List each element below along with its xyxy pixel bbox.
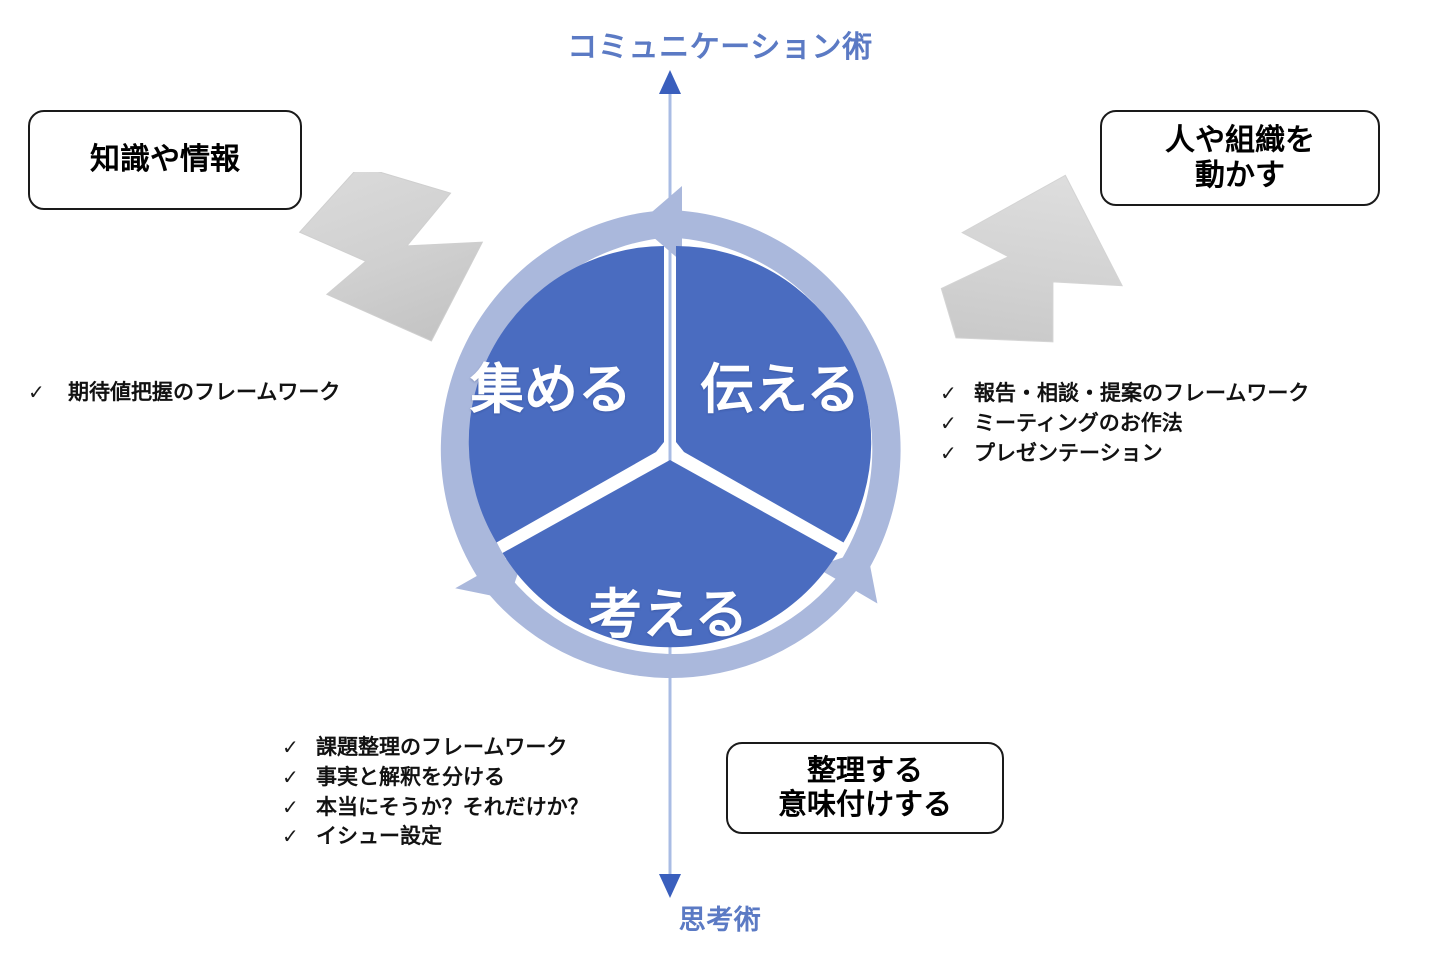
check-icon: ✓ <box>940 440 974 468</box>
list-item: ✓ プレゼンテーション <box>940 439 1309 469</box>
check-icon: ✓ <box>282 764 316 792</box>
callout-box-knowledge: 知識や情報 <box>28 110 302 210</box>
callout-box-move-people: 人や組織を 動かす <box>1100 110 1380 206</box>
axis-label-top: コミュニケーション術 <box>0 22 1440 66</box>
callout-organize-line2: 意味付けする <box>778 788 952 822</box>
checklist-right: ✓ 報告・相談・提案のフレームワーク ✓ ミーティングのお作法 ✓ プレゼンテー… <box>940 379 1309 468</box>
list-item: ✓ ミーティングのお作法 <box>940 409 1309 439</box>
segment-label-gather: 集める <box>470 345 632 424</box>
segment-label-convey: 伝える <box>700 345 860 424</box>
checklist-bottom: ✓ 課題整理のフレームワーク ✓ 事実と解釈を分ける ✓ 本当にそうか？それだけ… <box>282 733 589 852</box>
list-item: ✓ 報告・相談・提案のフレームワーク <box>940 379 1309 409</box>
check-icon: ✓ <box>940 410 974 438</box>
check-icon: ✓ <box>28 379 68 407</box>
list-item-label: 課題整理のフレームワーク <box>316 733 567 763</box>
check-icon: ✓ <box>940 380 974 408</box>
segment-label-think: 考える <box>588 570 748 649</box>
list-item: ✓ イシュー設定 <box>282 822 589 852</box>
callout-box-organize: 整理する 意味付けする <box>726 742 1004 834</box>
list-item: ✓ 課題整理のフレームワーク <box>282 733 589 763</box>
list-item: ✓ 本当にそうか？それだけか？ <box>282 793 589 823</box>
axis-label-bottom: 思考術 <box>0 898 1440 937</box>
axis-arrow-down-icon <box>659 874 681 898</box>
list-item-label: ミーティングのお作法 <box>974 409 1183 439</box>
check-icon: ✓ <box>282 734 316 762</box>
checklist-left: ✓ 期待値把握のフレームワーク <box>28 378 340 408</box>
axis-arrow-up-icon <box>659 70 681 94</box>
list-item-label: 報告・相談・提案のフレームワーク <box>974 379 1309 409</box>
list-item: ✓ 事実と解釈を分ける <box>282 763 589 793</box>
list-item-label: イシュー設定 <box>316 822 442 852</box>
check-icon: ✓ <box>282 823 316 851</box>
check-icon: ✓ <box>282 794 316 822</box>
callout-organize-line1: 整理する <box>778 754 952 788</box>
list-item: ✓ 期待値把握のフレームワーク <box>28 378 340 408</box>
callout-knowledge-text: 知識や情報 <box>90 142 240 177</box>
list-item-label: プレゼンテーション <box>974 439 1163 469</box>
callout-move-line2: 動かす <box>1165 158 1315 193</box>
callout-move-line1: 人や組織を <box>1165 123 1315 158</box>
list-item-label: 事実と解釈を分ける <box>316 763 505 793</box>
diagram-canvas: 集める 伝える 考える コミュニケーション術 思考術 知識や情報 人や組織を 動… <box>0 0 1440 956</box>
list-item-label: 本当にそうか？それだけか？ <box>316 793 589 823</box>
gray-arrow-shape-outbound <box>928 174 1134 376</box>
list-item-label: 期待値把握のフレームワーク <box>68 378 340 408</box>
